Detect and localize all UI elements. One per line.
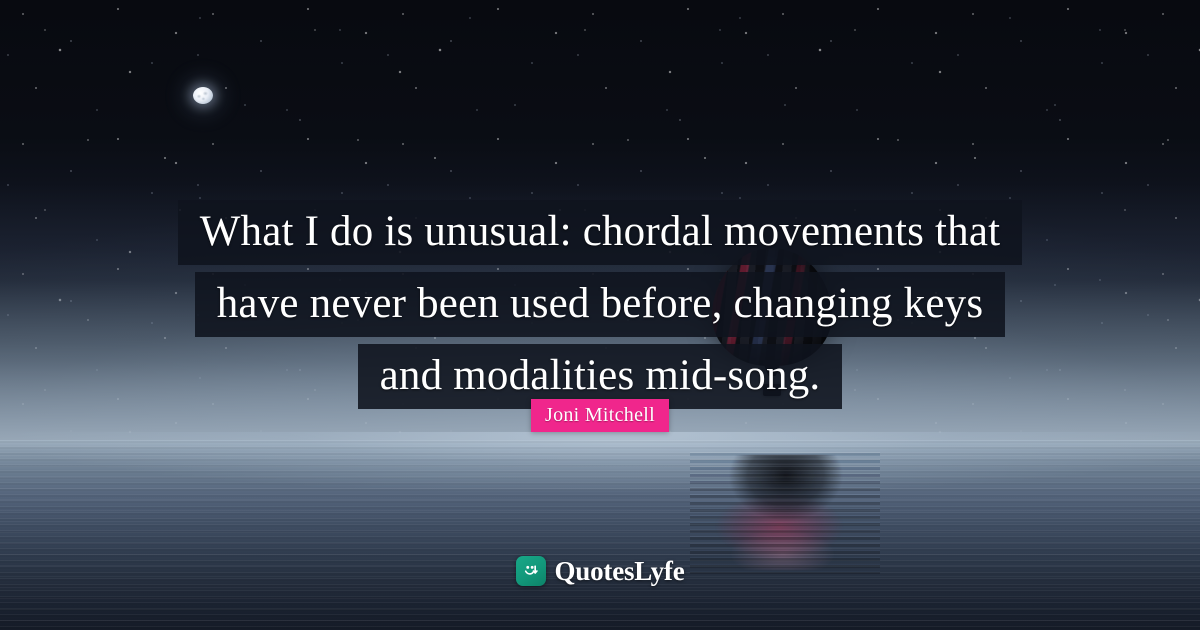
quote-line-1: What I do is unusual: chordal movements … <box>178 200 1023 265</box>
brand-logo[interactable]: QuotesLyfe <box>0 556 1200 586</box>
quote-line-2: have never been used before, changing ke… <box>195 272 1006 337</box>
author-attribution: Joni Mitchell <box>0 399 1200 432</box>
author-name-badge[interactable]: Joni Mitchell <box>531 399 669 432</box>
moon-icon <box>193 87 213 104</box>
quote-text-block: What I do is unusual: chordal movements … <box>0 200 1200 416</box>
water-surface <box>0 440 1200 630</box>
quote-card: What I do is unusual: chordal movements … <box>0 0 1200 630</box>
quote-smiley-icon <box>516 556 546 586</box>
brand-name: QuotesLyfe <box>555 558 685 585</box>
